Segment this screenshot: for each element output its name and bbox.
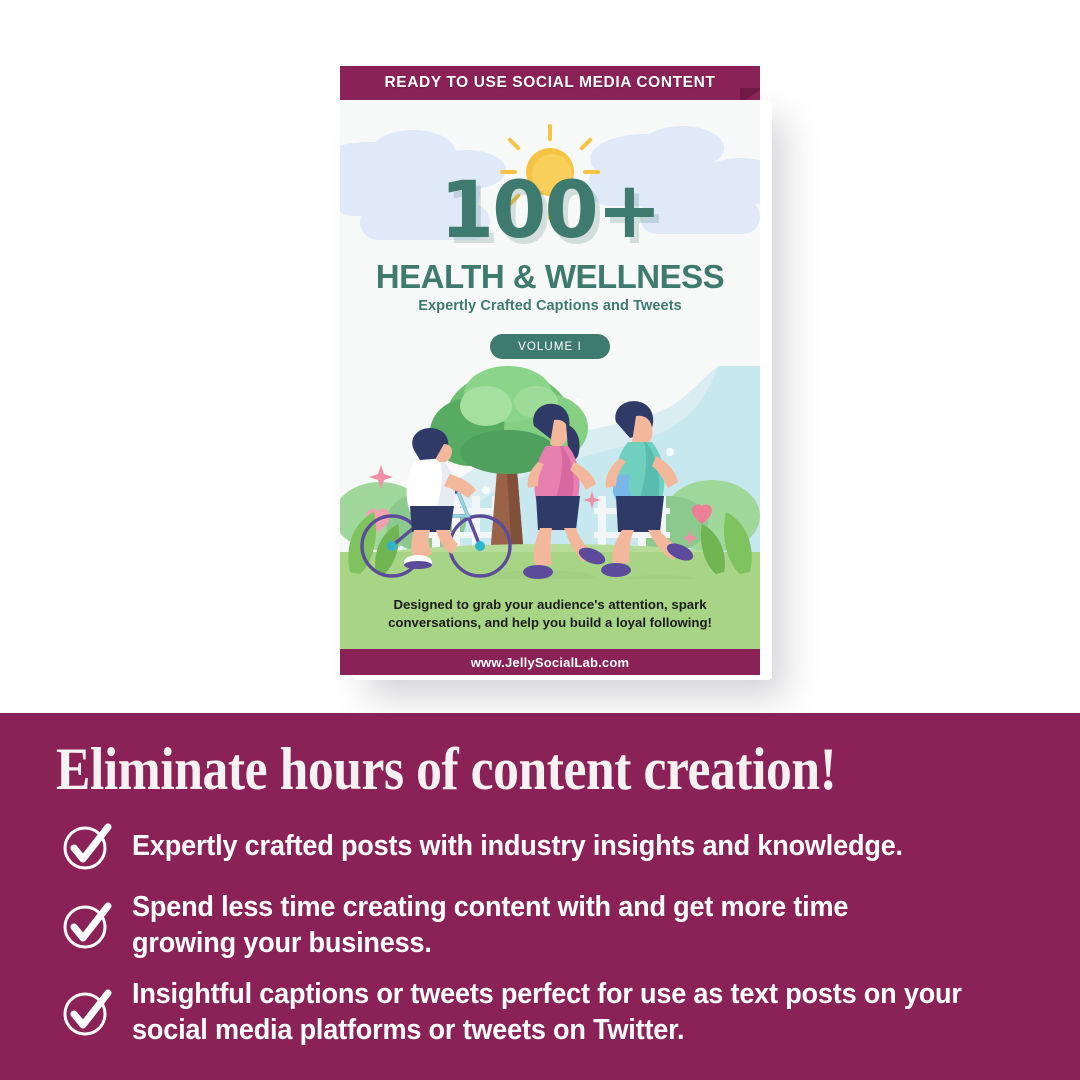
promo-headline: Eliminate hours of content creation! <box>56 735 916 804</box>
count-headline-wrap: 100+ <box>340 172 760 250</box>
list-item-label: Insightful captions or tweets perfect fo… <box>132 976 1012 1049</box>
list-item: Insightful captions or tweets perfect fo… <box>58 976 1058 1049</box>
benefits-list: Expertly crafted posts with industry ins… <box>58 817 1058 1063</box>
cover-subtitle: Expertly Crafted Captions and Tweets <box>340 298 760 314</box>
list-item: Spend less time creating content with an… <box>58 889 1058 962</box>
check-circle-icon <box>58 983 116 1041</box>
count-headline: 100+ <box>440 172 660 250</box>
list-item-label: Expertly crafted posts with industry ins… <box>132 828 903 864</box>
ribbon-label: READY TO USE SOCIAL MEDIA CONTENT <box>340 66 760 100</box>
check-circle-icon <box>58 817 116 875</box>
check-circle-icon <box>58 896 116 954</box>
ebook-cover[interactable]: READY TO USE SOCIAL MEDIA CONTENT <box>340 66 760 675</box>
volume-badge: VOLUME I <box>490 334 610 359</box>
promo-panel: Eliminate hours of content creation! Exp… <box>0 713 1080 1080</box>
cover-caption: Designed to grab your audience's attenti… <box>340 579 760 649</box>
product-showcase-area: READY TO USE SOCIAL MEDIA CONTENT <box>0 0 1080 713</box>
list-item: Expertly crafted posts with industry ins… <box>58 817 1058 875</box>
sun-ray-icon <box>507 137 521 151</box>
sun-ray-icon <box>548 124 552 141</box>
list-item-label: Spend less time creating content with an… <box>132 889 949 962</box>
cover-title: HEALTH & WELLNESS <box>340 258 760 296</box>
sun-ray-icon <box>579 137 593 151</box>
cover-website-url[interactable]: www.JellySocialLab.com <box>340 649 760 675</box>
